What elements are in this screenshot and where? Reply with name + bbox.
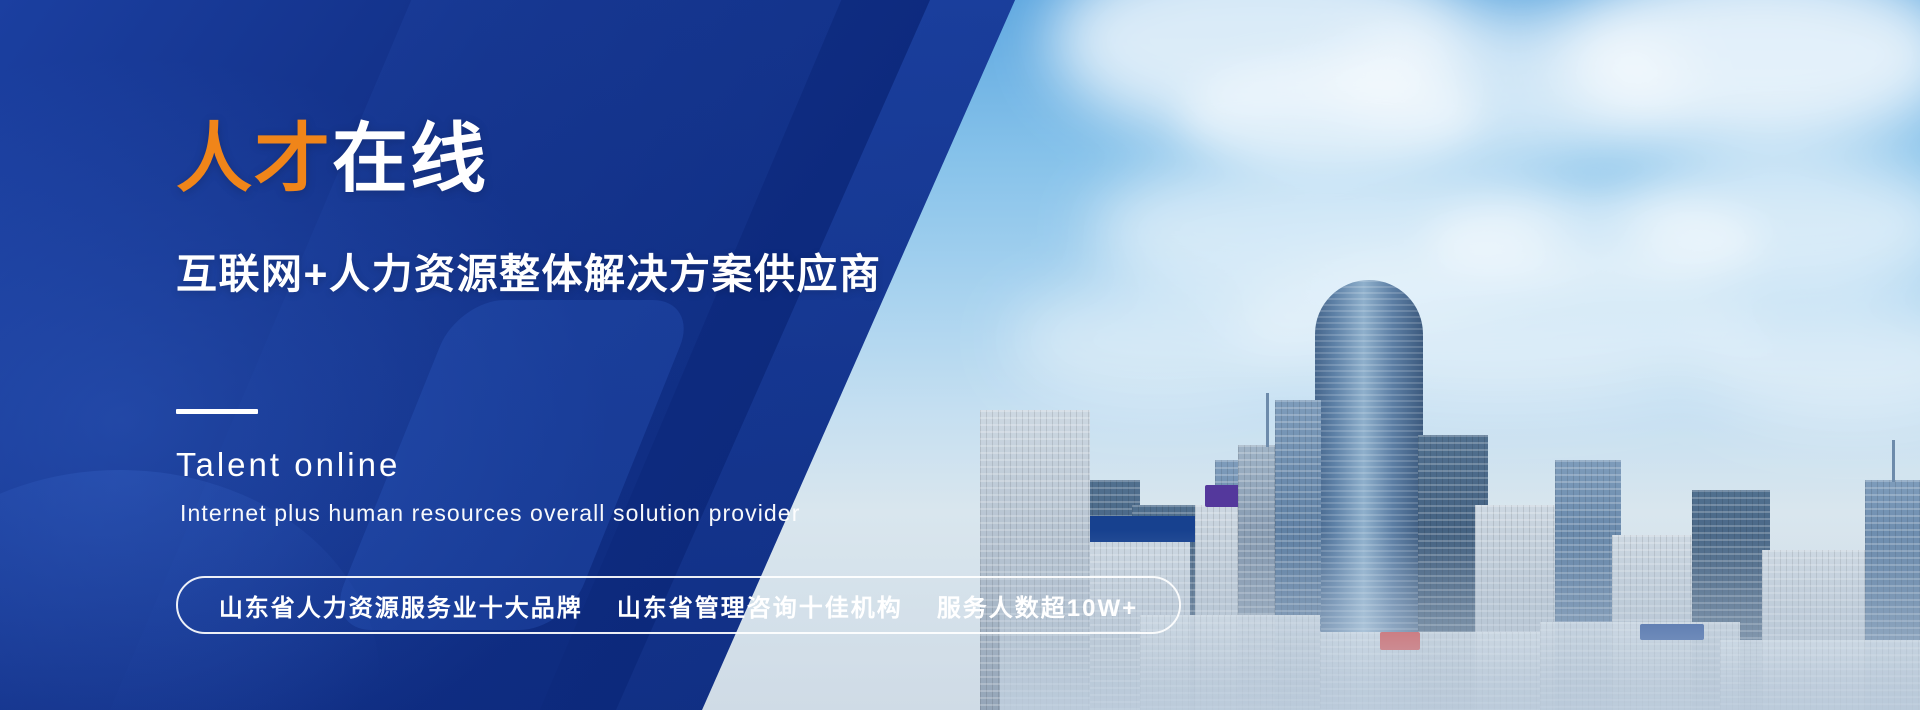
english-subtitle: Internet plus human resources overall so… — [180, 500, 800, 527]
page-subtitle: 互联网+人力资源整体解决方案供应商 — [176, 240, 881, 300]
banner-content: 人才在线 互联网+人力资源整体解决方案供应商 Talent online Int… — [0, 0, 1100, 710]
divider — [176, 409, 258, 414]
credential-item-1: 山东省人力资源服务业十大品牌 — [219, 588, 583, 623]
hero-banner: 人才在线 互联网+人力资源整体解决方案供应商 Talent online Int… — [0, 0, 1920, 710]
credentials-pill: 山东省人力资源服务业十大品牌 山东省管理咨询十佳机构 服务人数超10W+ — [176, 576, 1181, 634]
english-title: Talent online — [176, 446, 400, 484]
headline-accent: 人才 — [176, 117, 332, 202]
credential-item-2: 山东省管理咨询十佳机构 — [617, 588, 903, 623]
headline-plain: 在线 — [332, 117, 488, 202]
page-title: 人才在线 — [176, 122, 488, 198]
credential-item-3: 服务人数超10W+ — [937, 588, 1138, 623]
